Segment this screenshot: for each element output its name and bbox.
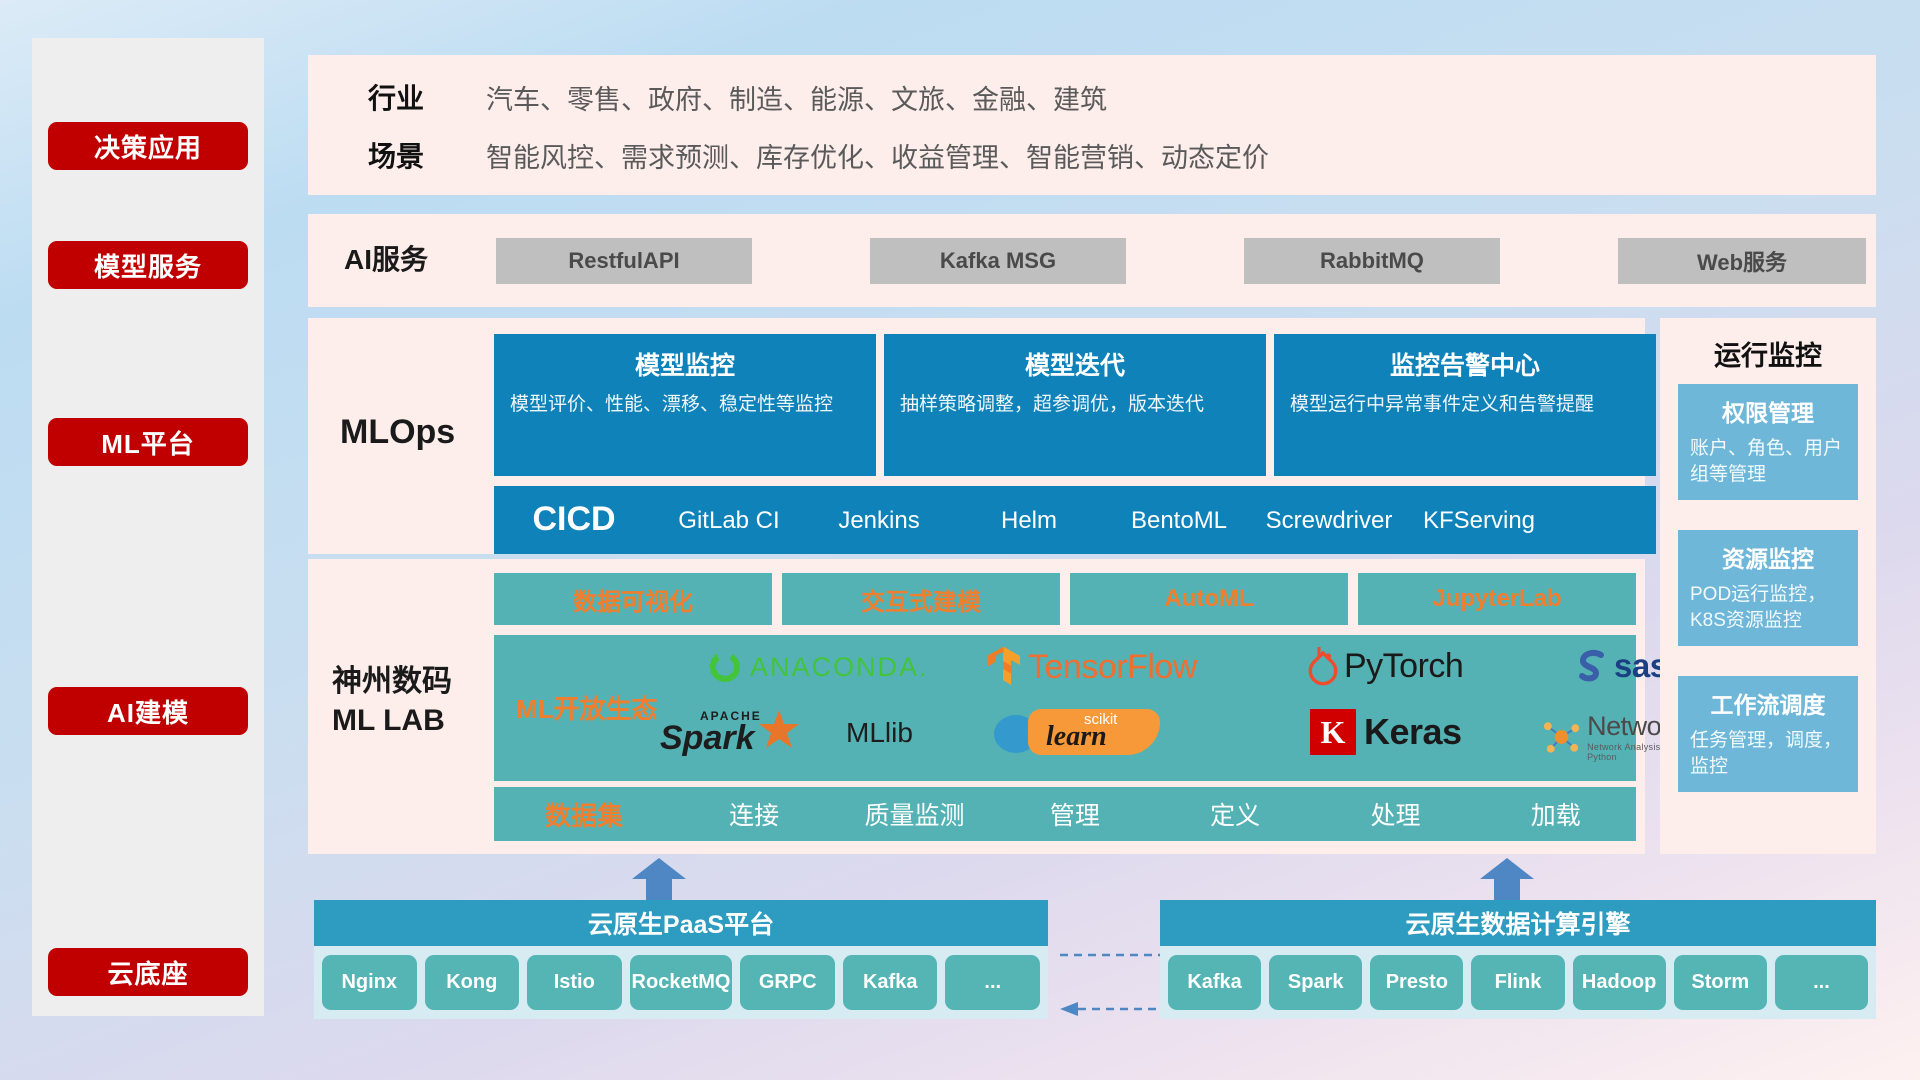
cloud-paas-title: 云原生PaaS平台 (314, 900, 1048, 946)
pytorch-icon (1306, 645, 1340, 687)
sas-icon (1574, 647, 1612, 685)
tensorflow-logo: TensorFlow (984, 645, 1197, 689)
industry-key: 行业 (336, 77, 456, 117)
cloud-chip-rocketmq[interactable]: RocketMQ (630, 955, 733, 1010)
dataset-label: 数据集 (494, 796, 674, 833)
mlops-card-alert-center[interactable]: 监控告警中心 模型运行中异常事件定义和告警提醒 (1274, 334, 1656, 476)
mllib-wordmark: MLlib (846, 717, 913, 749)
pytorch-logo: PyTorch (1306, 645, 1463, 687)
card-desc: 模型运行中异常事件定义和告警提醒 (1290, 392, 1640, 418)
tab-jupyterlab[interactable]: JupyterLab (1358, 573, 1636, 625)
scenario-key: 场景 (336, 135, 456, 175)
card-title: 资源监控 (1690, 540, 1846, 574)
dataset-item-define[interactable]: 定义 (1155, 796, 1315, 832)
cloud-chip-flink[interactable]: Flink (1471, 955, 1564, 1010)
anaconda-logo: ANACONDA. (704, 647, 929, 687)
spark-mllib-logo: APACHE Spark MLlib (660, 707, 913, 759)
tab-automl[interactable]: AutoML (1070, 573, 1348, 625)
card-desc: 模型评价、性能、漂移、稳定性等监控 (510, 392, 860, 418)
cicd-item-kfserving[interactable]: KFServing (1404, 486, 1554, 536)
card-desc: 抽样策略调整，超参调优，版本迭代 (900, 392, 1250, 418)
scenario-row: 场景 智能风控、需求预测、库存优化、收益管理、智能营销、动态定价 (336, 135, 1269, 175)
service-chip-rabbitmq[interactable]: RabbitMQ (1244, 238, 1500, 284)
dataset-item-process[interactable]: 处理 (1315, 796, 1475, 832)
dataset-item-quality-monitor[interactable]: 质量监测 (834, 796, 994, 832)
cloud-chip-hadoop[interactable]: Hadoop (1573, 955, 1666, 1010)
card-title: 模型迭代 (900, 346, 1250, 382)
scenario-value: 智能风控、需求预测、库存优化、收益管理、智能营销、动态定价 (486, 136, 1269, 175)
anaconda-wordmark: ANACONDA. (750, 652, 929, 683)
rail-item-label: 模型服务 (94, 247, 202, 284)
cloud-group-paas: 云原生PaaS平台 Nginx Kong Istio RocketMQ GRPC… (314, 900, 1048, 1019)
chip-label: Web服务 (1697, 245, 1787, 277)
keras-wordmark: Keras (1364, 711, 1462, 753)
rail-item-cloud-base[interactable]: 云底座 (48, 948, 248, 996)
keras-logo: K Keras (1310, 709, 1462, 755)
rail-item-ai-modeling[interactable]: AI建模 (48, 687, 248, 735)
cloud-chip-storm[interactable]: Storm (1674, 955, 1767, 1010)
chip-label: RabbitMQ (1320, 248, 1424, 274)
anaconda-icon (704, 647, 744, 687)
ml-ecosystem-box: ML开放生态 ANACONDA. TensorFlow (494, 635, 1636, 781)
networkx-icon (1540, 715, 1583, 759)
mllab-label-line1: 神州数码 (332, 662, 452, 701)
cicd-bar[interactable]: CICD GitLab CI Jenkins Helm BentoML Scre… (494, 486, 1656, 554)
cloud-chip-spark[interactable]: Spark (1269, 955, 1362, 1010)
monitor-card-resource[interactable]: 资源监控 POD运行监控，K8S资源监控 (1678, 530, 1858, 646)
cicd-item-jenkins[interactable]: Jenkins (804, 486, 954, 536)
left-rail-panel: 决策应用 模型服务 ML平台 AI建模 云底座 (32, 38, 264, 1016)
rail-item-label: 云底座 (107, 954, 188, 991)
monitoring-panel: 运行监控 权限管理 账户、角色、用户组等管理 资源监控 POD运行监控，K8S资… (1660, 318, 1876, 854)
tensorflow-wordmark: TensorFlow (1028, 648, 1197, 687)
rail-item-label: ML平台 (101, 424, 195, 461)
application-layer-panel: 行业 汽车、零售、政府、制造、能源、文旅、金融、建筑 场景 智能风控、需求预测、… (308, 55, 1876, 195)
spark-wordmark: Spark (660, 719, 755, 758)
monitoring-title: 运行监控 (1660, 334, 1876, 373)
cloud-chip-kafka[interactable]: Kafka (843, 955, 938, 1010)
cicd-item-screwdriver[interactable]: Screwdriver (1254, 486, 1404, 536)
card-desc: POD运行监控，K8S资源监控 (1690, 582, 1846, 633)
up-arrow-data-engine-icon (1478, 858, 1536, 900)
cloud-chip-kong[interactable]: Kong (425, 955, 520, 1010)
cloud-chip-more[interactable]: ... (1775, 955, 1868, 1010)
sas-logo: sas (1574, 647, 1668, 685)
cloud-paas-chip-row: Nginx Kong Istio RocketMQ GRPC Kafka ... (314, 946, 1048, 1019)
cicd-item-gitlab-ci[interactable]: GitLab CI (654, 486, 804, 536)
tab-label: 交互式建模 (861, 582, 981, 617)
cloud-chip-kafka[interactable]: Kafka (1168, 955, 1261, 1010)
ecosystem-label: ML开放生态 (516, 689, 658, 726)
card-title: 模型监控 (510, 346, 860, 382)
cloud-data-engine-title: 云原生数据计算引擎 (1160, 900, 1876, 946)
tab-label: AutoML (1164, 585, 1253, 613)
rail-item-model-service[interactable]: 模型服务 (48, 241, 248, 289)
mllab-label-line2: ML LAB (332, 701, 452, 740)
modeling-layer-panel: 神州数码 ML LAB 数据可视化 交互式建模 AutoML JupyterLa… (308, 559, 1645, 854)
ai-service-label: AI服务 (344, 238, 428, 278)
cicd-clip-region: CICD GitLab CI Jenkins Helm BentoML Scre… (494, 486, 1656, 554)
mlops-label: MLOps (340, 413, 455, 452)
service-chip-web-service[interactable]: Web服务 (1618, 238, 1866, 284)
tab-data-visualization[interactable]: 数据可视化 (494, 573, 772, 625)
rail-item-label: AI建模 (107, 693, 189, 730)
mlops-layer-panel: MLOps 模型监控 模型评价、性能、漂移、稳定性等监控 模型迭代 抽样策略调整… (308, 318, 1645, 554)
card-title: 工作流调度 (1690, 686, 1846, 720)
cloud-chip-more[interactable]: ... (945, 955, 1040, 1010)
mlops-card-model-iteration[interactable]: 模型迭代 抽样策略调整，超参调优，版本迭代 (884, 334, 1266, 476)
service-layer-panel: AI服务 RestfulAPI Kafka MSG RabbitMQ Web服务 (308, 214, 1876, 307)
keras-mark-icon: K (1310, 709, 1356, 755)
service-chip-restfulapi[interactable]: RestfulAPI (496, 238, 752, 284)
cloud-data-engine-chip-row: Kafka Spark Presto Flink Hadoop Storm ..… (1160, 946, 1876, 1019)
industry-row: 行业 汽车、零售、政府、制造、能源、文旅、金融、建筑 (336, 77, 1107, 117)
cloud-chip-presto[interactable]: Presto (1370, 955, 1463, 1010)
learn-wordmark: learn (1046, 721, 1107, 753)
monitor-card-permission[interactable]: 权限管理 账户、角色、用户组等管理 (1678, 384, 1858, 500)
dataset-item-manage[interactable]: 管理 (995, 796, 1155, 832)
card-desc: 任务管理，调度，监控 (1690, 728, 1846, 779)
dataset-row: 数据集 连接 质量监测 管理 定义 处理 加载 (494, 787, 1636, 841)
rail-item-ml-platform[interactable]: ML平台 (48, 418, 248, 466)
keras-mark-letter: K (1321, 714, 1346, 751)
up-arrow-paas-icon (630, 858, 688, 900)
mlops-card-model-monitoring[interactable]: 模型监控 模型评价、性能、漂移、稳定性等监控 (494, 334, 876, 476)
card-title: 监控告警中心 (1290, 346, 1640, 382)
service-chip-kafka-msg[interactable]: Kafka MSG (870, 238, 1126, 284)
cicd-item-bentoml[interactable]: BentoML (1104, 486, 1254, 536)
tab-label: 数据可视化 (573, 582, 693, 617)
industry-value: 汽车、零售、政府、制造、能源、文旅、金融、建筑 (486, 78, 1107, 117)
cicd-item-helm[interactable]: Helm (954, 486, 1104, 536)
rail-item-label: 决策应用 (94, 128, 202, 165)
rail-item-decision-app[interactable]: 决策应用 (48, 122, 248, 170)
pytorch-wordmark: PyTorch (1344, 647, 1463, 686)
scikit-learn-logo: scikit learn (994, 709, 1184, 759)
monitor-card-workflow[interactable]: 工作流调度 任务管理，调度，监控 (1678, 676, 1858, 792)
card-title: 权限管理 (1690, 394, 1846, 428)
chip-label: RestfulAPI (568, 248, 679, 274)
cloud-group-data-engine: 云原生数据计算引擎 Kafka Spark Presto Flink Hadoo… (1160, 900, 1876, 1019)
mllab-label: 神州数码 ML LAB (332, 662, 452, 740)
spark-star-icon (756, 707, 802, 753)
dataset-item-connect[interactable]: 连接 (674, 796, 834, 832)
tab-label: JupyterLab (1432, 585, 1561, 613)
cloud-chip-istio[interactable]: Istio (527, 955, 622, 1010)
chip-label: Kafka MSG (940, 248, 1056, 274)
cicd-label: CICD (494, 486, 654, 539)
cloud-chip-nginx[interactable]: Nginx (322, 955, 417, 1010)
cloud-chip-grpc[interactable]: GRPC (740, 955, 835, 1010)
tensorflow-icon (984, 645, 1024, 689)
card-desc: 账户、角色、用户组等管理 (1690, 436, 1846, 487)
dataset-item-load[interactable]: 加载 (1476, 796, 1636, 832)
tab-interactive-modeling[interactable]: 交互式建模 (782, 573, 1060, 625)
